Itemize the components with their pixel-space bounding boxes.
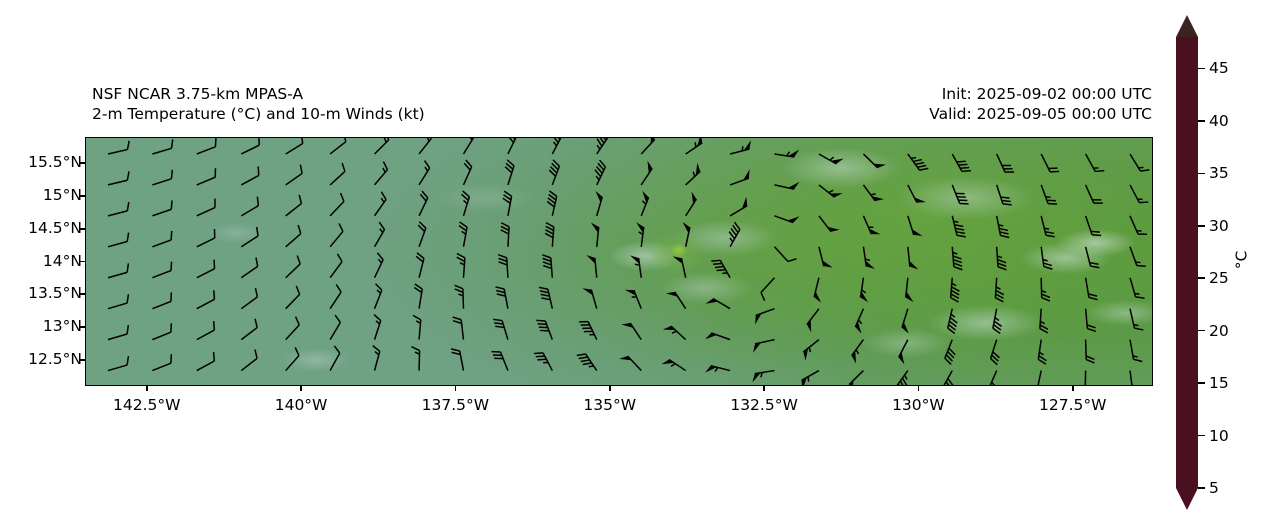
wind-barb	[993, 309, 1002, 334]
wind-barb	[619, 356, 641, 371]
x-tick-label: 135°W	[583, 396, 636, 414]
wind-barb	[197, 138, 216, 154]
wind-barb	[663, 326, 686, 340]
x-tick-label: 132.5°W	[730, 396, 797, 414]
colorbar: 51015202530354045	[1176, 15, 1198, 510]
wind-barb	[455, 285, 464, 308]
wind-barb	[545, 223, 554, 247]
wind-barb	[414, 284, 422, 309]
wind-barb	[774, 182, 799, 189]
colorbar-tick	[1198, 68, 1205, 70]
wind-barb	[451, 349, 463, 371]
wind-barb	[330, 315, 340, 340]
colorbar-tick-label: 40	[1209, 112, 1229, 130]
wind-barb	[630, 255, 641, 277]
wind-barb	[459, 222, 467, 247]
wind-barb	[108, 263, 128, 277]
wind-barb	[241, 258, 257, 278]
colorbar-tick-label: 35	[1209, 164, 1229, 182]
wind-barb	[1041, 247, 1052, 269]
colorbar-tick-label: 5	[1209, 479, 1219, 497]
wind-barb	[819, 154, 844, 164]
wind-barb	[814, 278, 821, 303]
wind-barb	[286, 225, 301, 247]
wind-barb	[241, 288, 257, 309]
wind-barb	[330, 346, 340, 371]
wind-barb	[330, 193, 344, 216]
wind-barb	[453, 317, 464, 340]
wind-barb	[108, 202, 129, 216]
wind-barb	[197, 168, 216, 185]
wind-barb	[1130, 154, 1149, 171]
wind-barb	[1086, 216, 1101, 236]
init-time: Init: 2025-09-02 00:00 UTC	[929, 84, 1152, 104]
wind-barb	[997, 247, 1007, 270]
wind-barb	[241, 350, 257, 371]
y-tick-label: 13°N	[43, 317, 82, 335]
y-tick-label: 15.5°N	[28, 153, 82, 171]
wind-barb	[152, 170, 172, 185]
wind-barb	[1086, 247, 1100, 268]
wind-barb	[849, 371, 863, 386]
x-tick	[609, 386, 611, 391]
wind-barb	[419, 191, 428, 216]
wind-barb	[945, 340, 955, 365]
wind-barb	[152, 262, 171, 278]
wind-barb	[286, 165, 302, 185]
wind-barb	[673, 256, 686, 277]
y-tick-label: 12.5°N	[28, 350, 82, 368]
colorbar-tick	[1198, 277, 1205, 279]
wind-barb	[863, 154, 886, 168]
wind-barb	[1041, 278, 1050, 301]
wind-barb	[863, 185, 884, 201]
y-tick-label: 13.5°N	[28, 284, 82, 302]
wind-barb	[419, 138, 431, 154]
wind-barb	[286, 317, 299, 340]
wind-barb	[597, 138, 608, 154]
wind-barb	[241, 227, 258, 247]
map-plot-area	[85, 137, 1153, 386]
wind-barb-layer	[86, 138, 1152, 386]
wind-barb	[241, 197, 258, 216]
colorbar-tick-label: 25	[1209, 269, 1229, 287]
field-title: 2-m Temperature (°C) and 10-m Winds (kt)	[92, 104, 425, 124]
wind-barb	[197, 290, 215, 308]
x-tick-label: 130°W	[892, 396, 945, 414]
wind-barb	[498, 255, 508, 278]
x-tick	[1072, 386, 1074, 391]
wind-barb	[1130, 247, 1146, 266]
wind-barb	[683, 222, 690, 247]
wind-barb	[819, 216, 840, 232]
wind-barb	[1130, 278, 1144, 298]
wind-barb	[197, 199, 215, 216]
wind-barb	[152, 139, 172, 154]
wind-barb	[330, 254, 342, 278]
wind-barb	[508, 138, 517, 154]
wind-barb	[547, 191, 557, 216]
wind-barb	[197, 229, 215, 247]
wind-barb	[330, 163, 345, 185]
wind-barb	[501, 223, 509, 247]
wind-barb	[774, 149, 799, 157]
wind-barb	[952, 154, 971, 171]
wind-barb	[108, 356, 128, 370]
wind-barb	[286, 138, 303, 154]
wind-barb	[752, 371, 774, 383]
wind-barb	[539, 287, 552, 308]
wind-barb	[666, 292, 686, 309]
wind-barb	[997, 216, 1010, 238]
wind-barb	[375, 222, 385, 247]
wind-barb	[108, 233, 129, 247]
wind-barb	[641, 161, 652, 185]
wind-barb	[286, 286, 300, 309]
wind-barb	[595, 191, 602, 216]
y-tick-label: 14.5°N	[28, 219, 82, 237]
wind-barb	[418, 222, 426, 247]
wind-barb	[906, 278, 914, 302]
wind-barb	[492, 352, 508, 371]
colorbar-tick	[1198, 382, 1205, 384]
wind-barb	[1038, 340, 1046, 365]
wind-barb	[1130, 371, 1141, 386]
wind-barb	[802, 371, 819, 386]
wind-barb	[636, 222, 644, 247]
wind-barb	[330, 138, 346, 154]
x-tick-label: 140°W	[275, 396, 328, 414]
wind-barb	[730, 169, 750, 185]
wind-barb	[1037, 371, 1045, 386]
wind-barb	[1040, 309, 1048, 333]
x-tick	[455, 386, 457, 391]
wind-barb	[534, 353, 552, 371]
wind-barb	[641, 191, 648, 216]
temperature-field	[86, 138, 1152, 385]
wind-barb	[908, 247, 919, 270]
x-tick	[918, 386, 920, 391]
colorbar-tick	[1198, 435, 1205, 437]
x-tick-label: 142.5°W	[113, 396, 180, 414]
wind-barb	[863, 247, 874, 269]
colorbar-over-arrow	[1176, 15, 1198, 37]
x-tick	[300, 386, 302, 391]
wind-barb	[197, 321, 215, 340]
wind-barb	[995, 278, 1003, 302]
wind-barb	[552, 138, 561, 154]
wind-barb	[896, 371, 908, 386]
wind-barb	[948, 309, 958, 334]
wind-barb	[375, 162, 388, 185]
figure-root: NSF NCAR 3.75-km MPAS-A 2-m Temperature …	[0, 0, 1268, 520]
wind-barb	[493, 319, 508, 339]
wind-barb	[375, 138, 389, 154]
wind-barb	[152, 323, 171, 339]
wind-barb	[197, 260, 215, 278]
wind-barb	[807, 309, 819, 333]
wind-barb	[419, 161, 430, 185]
wind-barb	[375, 192, 386, 216]
wind-barb	[899, 340, 908, 365]
wind-barb	[411, 347, 419, 371]
wind-barb	[761, 278, 774, 301]
wind-barb	[579, 322, 597, 340]
wind-barb	[505, 160, 514, 185]
wind-barb	[852, 340, 864, 364]
title-block: NSF NCAR 3.75-km MPAS-A 2-m Temperature …	[92, 84, 425, 124]
wind-barb	[416, 253, 424, 278]
colorbar-tick-label: 45	[1209, 59, 1229, 77]
wind-barb	[457, 254, 465, 278]
wind-barb	[819, 185, 843, 197]
x-tick	[763, 386, 765, 391]
wind-barb	[1130, 216, 1147, 234]
wind-barb	[549, 160, 559, 185]
wind-barb	[711, 260, 730, 277]
wind-barb	[374, 315, 381, 340]
colorbar-tick	[1198, 330, 1205, 332]
wind-barb	[641, 138, 655, 154]
wind-barb	[997, 154, 1014, 172]
y-tick-label: 14°N	[43, 252, 82, 270]
wind-barb	[686, 138, 703, 154]
wind-barb	[755, 309, 774, 325]
wind-barb	[1086, 185, 1103, 203]
wind-barb	[152, 200, 172, 215]
wind-barb	[108, 294, 128, 308]
wind-barb	[373, 346, 380, 371]
wind-barb	[861, 278, 869, 303]
colorbar-tick-label: 10	[1209, 427, 1229, 445]
wind-barb	[108, 141, 129, 154]
x-tick-label: 127.5°W	[1039, 396, 1106, 414]
wind-barb	[952, 185, 968, 204]
wind-barb	[908, 216, 923, 236]
wind-barb	[496, 287, 508, 309]
valid-time: Valid: 2025-09-05 00:00 UTC	[929, 104, 1152, 124]
wind-barb	[621, 323, 641, 340]
wind-barb	[152, 292, 171, 308]
wind-barb	[241, 166, 258, 184]
wind-barb	[730, 140, 751, 154]
wind-barb	[286, 347, 299, 370]
colorbar-tick-label: 30	[1209, 217, 1229, 235]
wind-barb	[1130, 309, 1143, 330]
wind-barb	[330, 284, 341, 308]
wind-barb	[908, 154, 928, 170]
wind-barb	[503, 191, 512, 216]
model-title: NSF NCAR 3.75-km MPAS-A	[92, 84, 425, 104]
wind-barb	[152, 231, 171, 247]
wind-barb	[536, 320, 552, 339]
colorbar-tick-label: 20	[1209, 322, 1229, 340]
wind-barb	[595, 160, 605, 185]
wind-barb	[1085, 371, 1093, 386]
wind-barb	[951, 278, 960, 302]
wind-barb	[661, 359, 685, 370]
wind-barb	[997, 185, 1012, 205]
wind-barb	[586, 255, 596, 278]
wind-barb	[1041, 154, 1059, 172]
wind-barb	[286, 195, 302, 216]
colorbar-label: °C	[1232, 251, 1250, 270]
wind-barb	[729, 222, 740, 247]
wind-barb	[1041, 185, 1057, 204]
wind-barb	[686, 191, 697, 215]
wind-barb	[330, 223, 343, 246]
wind-barb	[1086, 278, 1098, 300]
wind-barb	[730, 197, 747, 216]
wind-barb	[577, 354, 597, 371]
wind-barb	[241, 138, 259, 154]
wind-barb	[542, 255, 552, 278]
wind-barb	[1086, 154, 1105, 171]
wind-barb	[705, 333, 730, 340]
wind-barb	[803, 340, 819, 361]
colorbar-tick	[1198, 487, 1205, 489]
wind-barb	[819, 247, 833, 268]
colorbar-tick	[1198, 120, 1205, 122]
wind-barb	[625, 290, 641, 309]
wind-barb	[241, 319, 257, 340]
wind-barb	[1130, 340, 1142, 362]
wind-barb	[952, 247, 962, 270]
wind-barb	[1041, 216, 1055, 237]
wind-barb	[705, 366, 730, 373]
wind-barb	[375, 284, 382, 309]
colorbar-tick	[1198, 173, 1205, 175]
wind-barb	[375, 253, 384, 278]
wind-barb	[863, 216, 880, 234]
wind-barb	[591, 222, 599, 246]
wind-barb	[952, 216, 965, 237]
wind-barb	[463, 160, 471, 185]
wind-barb	[989, 371, 998, 386]
wind-barb	[582, 288, 596, 308]
wind-barb	[991, 340, 1000, 365]
wind-barb	[463, 138, 473, 154]
wind-barb	[1086, 309, 1096, 332]
wind-barb	[686, 163, 701, 185]
wind-barb	[413, 315, 421, 339]
wind-barb	[774, 216, 799, 223]
wind-barb	[774, 247, 796, 262]
wind-barb	[908, 185, 926, 203]
wind-barb	[461, 191, 469, 216]
wind-barb	[1130, 185, 1148, 203]
wind-barb	[753, 340, 774, 353]
wind-barb	[902, 309, 909, 334]
colorbar-under-arrow	[1176, 488, 1198, 510]
wind-barb	[152, 354, 171, 370]
wind-barb	[706, 298, 730, 308]
wind-barb	[286, 255, 300, 277]
x-tick-label: 137.5°W	[422, 396, 489, 414]
x-tick	[146, 386, 148, 391]
wind-barb	[197, 352, 215, 371]
colorbar-tick	[1198, 225, 1205, 227]
wind-barb	[1086, 340, 1095, 363]
colorbar-gradient	[1176, 37, 1198, 488]
y-tick-label: 15°N	[43, 186, 82, 204]
wind-barb	[943, 371, 954, 386]
colorbar-tick-label: 15	[1209, 374, 1229, 392]
wind-barb	[855, 309, 863, 334]
wind-barb	[108, 171, 129, 185]
valid-time-block: Init: 2025-09-02 00:00 UTC Valid: 2025-0…	[929, 84, 1152, 124]
wind-barb	[108, 325, 128, 339]
